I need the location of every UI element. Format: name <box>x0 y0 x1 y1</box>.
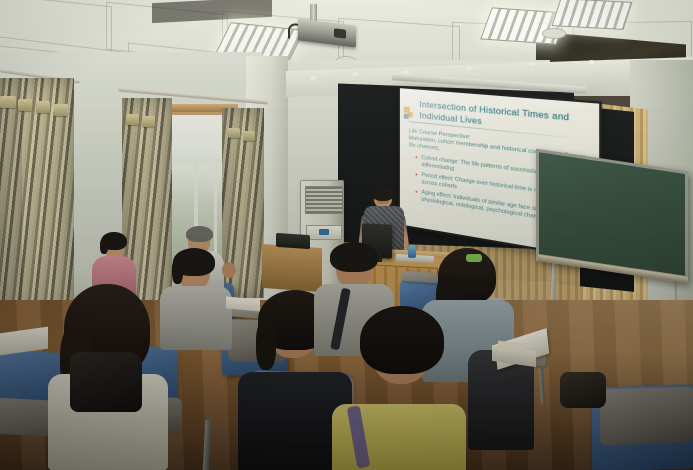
downlight-icon <box>588 60 595 64</box>
audience-hand <box>222 262 236 278</box>
downlight-icon <box>310 76 317 80</box>
downlight-icon <box>352 72 359 76</box>
curtain-tieback <box>36 101 50 113</box>
curtain-tieback <box>243 131 255 141</box>
water-bottle[interactable] <box>408 246 416 258</box>
air-conditioner-panel[interactable] <box>306 225 342 240</box>
downlight-icon <box>528 62 535 66</box>
ceiling-speaker-icon <box>542 28 566 39</box>
curtain-tieback <box>228 128 240 138</box>
projector-body <box>298 18 356 47</box>
curtain-tieback <box>126 114 139 125</box>
curtain-tieback <box>18 99 32 111</box>
curtain-tieback <box>54 104 68 116</box>
audience-member <box>338 310 466 470</box>
air-conditioner-grille <box>305 186 343 214</box>
hair-clip <box>466 254 482 262</box>
light-panel-icon <box>551 0 632 30</box>
bag[interactable] <box>560 372 606 408</box>
side-table <box>262 244 322 292</box>
chalkboard-assembly <box>536 160 688 290</box>
curtain-tieback <box>0 96 16 108</box>
downlight-icon <box>466 66 473 70</box>
classroom-photo: Intersection of Historical Times and Ind… <box>0 0 693 470</box>
equipment-box <box>276 233 310 249</box>
curtain-tieback <box>142 116 155 127</box>
projector <box>288 10 356 44</box>
handbag[interactable] <box>70 352 142 412</box>
slide-motif-icon <box>404 107 415 121</box>
projector-lens-icon <box>334 28 346 38</box>
presenter-hair <box>372 186 394 201</box>
lecture-seat-pad[interactable] <box>600 386 693 445</box>
